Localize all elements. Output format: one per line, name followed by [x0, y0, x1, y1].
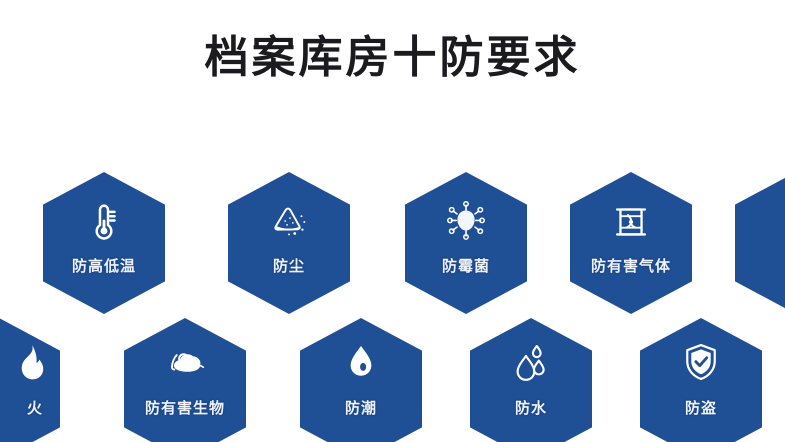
hex-tile-fire[interactable]: 火: [0, 318, 60, 442]
hex-tile-label: 防有害生物: [145, 400, 225, 418]
page-title: 档案库房十防要求: [0, 30, 785, 86]
hex-tile-damp[interactable]: 防潮: [300, 318, 422, 442]
water-drop-icon: [339, 340, 383, 384]
hex-tile-label: 防尘: [273, 258, 305, 276]
hex-tile-pest[interactable]: 防有害生物: [124, 318, 246, 442]
rodent-icon: [163, 340, 207, 384]
dust-pile-icon: [266, 198, 312, 244]
shield-check-icon: [679, 340, 723, 384]
water-drops-icon: [509, 340, 553, 384]
hex-tile-label: 防霉菌: [442, 258, 490, 276]
flame-icon: [8, 340, 52, 384]
hex-tile-partial-right[interactable]: 防: [735, 172, 785, 314]
slide-canvas: 档案库房十防要求 防高低温: [0, 0, 785, 442]
hex-tile-label: 防有害气体: [591, 258, 671, 276]
hex-tile-waterproof[interactable]: 防水: [470, 318, 592, 442]
hex-tile-dust[interactable]: 防尘: [228, 172, 350, 314]
microbe-icon: [443, 198, 489, 244]
hazard-barrel-icon: [608, 198, 654, 244]
thermometer-icon: [81, 198, 127, 244]
hex-tile-mold[interactable]: 防霉菌: [405, 172, 527, 314]
hex-tile-label: 防高低温: [72, 258, 136, 276]
hex-tile-antitheft[interactable]: 防盗: [640, 318, 762, 442]
hex-tile-label: 防水: [515, 400, 547, 418]
hex-tile-label: 防潮: [345, 400, 377, 418]
hex-tile-harmful-gas[interactable]: 防有害气体: [570, 172, 692, 314]
hex-tile-label: 火: [27, 400, 43, 418]
hex-tile-label: 防盗: [685, 400, 717, 418]
partial-icon: [773, 198, 785, 244]
hex-tile-temperature[interactable]: 防高低温: [43, 172, 165, 314]
